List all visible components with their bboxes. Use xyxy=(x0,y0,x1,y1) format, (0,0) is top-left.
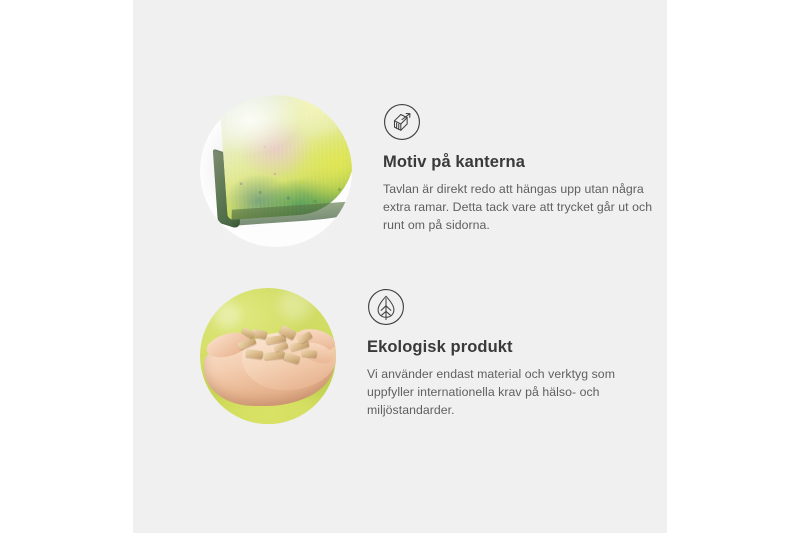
canvas-block xyxy=(219,95,352,244)
product-feature-infographic: Motiv på kanterna Tavlan är direkt redo … xyxy=(0,0,800,533)
wood-chips-pile xyxy=(236,326,318,368)
wood-chip xyxy=(302,349,318,358)
wood-chip xyxy=(283,352,301,365)
canvas-wrapped-edge-icon xyxy=(383,103,421,141)
wood-chip xyxy=(246,349,264,359)
feature-block-edges: Motiv på kanterna Tavlan är direkt redo … xyxy=(200,95,668,247)
canvas-photo-background xyxy=(200,95,352,247)
content-panel xyxy=(133,0,667,533)
feature-block-eco: Ekologisk produkt Vi använder endast mat… xyxy=(200,288,652,424)
feature-heading: Ekologisk produkt xyxy=(367,338,652,358)
grass-background xyxy=(200,288,336,424)
hands-holding-wood-chips-photo xyxy=(200,288,336,424)
feature-text-edges: Motiv på kanterna Tavlan är direkt redo … xyxy=(383,95,668,234)
canvas-front-face xyxy=(219,95,352,220)
feature-body: Tavlan är direkt redo att hängas upp uta… xyxy=(383,180,668,234)
wood-chip xyxy=(264,351,286,360)
canvas-print-corner-photo xyxy=(200,95,352,247)
canvas-paint-texture xyxy=(219,95,352,220)
feature-body: Vi använder endast material och verktyg … xyxy=(367,365,652,419)
feature-heading: Motiv på kanterna xyxy=(383,153,668,173)
feature-text-eco: Ekologisk produkt Vi använder endast mat… xyxy=(367,288,652,419)
leaf-icon xyxy=(367,288,405,326)
